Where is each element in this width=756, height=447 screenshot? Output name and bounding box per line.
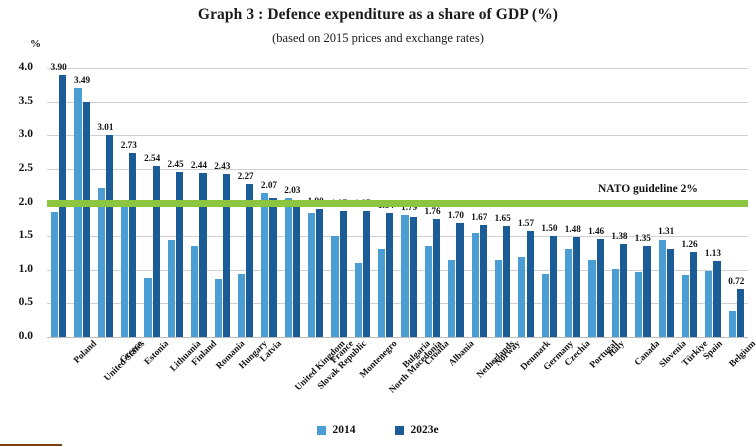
bar-2014[interactable] [121,207,128,337]
bar-2023e[interactable] [223,174,230,337]
bar-2023e[interactable] [293,200,300,337]
bar-2023e[interactable] [620,244,627,337]
bar-value-label: 0.72 [724,276,748,286]
y-axis-tick-label: 4.0 [1,61,33,73]
bar-value-label: 1.57 [514,218,538,228]
bar-2014[interactable] [705,271,712,337]
bar-value-label: 1.31 [654,226,678,236]
bar-value-label: 1.13 [701,248,725,258]
y-axis-tick-label: 0.0 [1,330,33,342]
bar-2023e[interactable] [83,102,90,337]
y-axis-tick-label: 0.5 [1,296,33,308]
y-axis-tick-label: 1.5 [1,229,33,241]
bar-2014[interactable] [238,274,245,337]
footer-rule [0,444,62,446]
x-axis-label: Belgium [728,339,756,369]
bar-2014[interactable] [635,272,642,337]
bar-value-label: 2.43 [210,161,234,171]
bar-2023e[interactable] [550,236,557,337]
bar-2014[interactable] [331,236,338,337]
bar-2014[interactable] [729,311,736,337]
bar-2014[interactable] [495,260,502,337]
bar-value-label: 1.70 [444,210,468,220]
bar-value-label: 1.38 [607,231,631,241]
bar-2023e[interactable] [246,184,253,337]
bar-2023e[interactable] [106,135,113,337]
x-axis-label: Estonia [143,339,171,367]
bar-value-label: 2.07 [257,180,281,190]
legend-label-2023e: 2023e [410,424,438,436]
bar-value-label: 1.65 [491,213,515,223]
bar-value-label: 3.90 [47,62,71,72]
bar-2023e[interactable] [503,226,510,337]
bar-2014[interactable] [659,240,666,338]
legend-item-2014[interactable]: 2014 [317,424,355,436]
bar-2014[interactable] [285,198,292,337]
bar-value-label: 2.73 [117,140,141,150]
bar-value-label: 1.46 [584,226,608,236]
bar-value-label: 1.67 [467,212,491,222]
bar-2014[interactable] [472,233,479,337]
bar-value-label: 3.49 [70,75,94,85]
bar-2014[interactable] [308,213,315,337]
bar-2023e[interactable] [597,239,604,337]
bar-value-label: 2.03 [280,185,304,195]
bar-2023e[interactable] [713,261,720,337]
bar-2014[interactable] [401,215,408,337]
bar-2023e[interactable] [667,249,674,337]
bar-value-label: 2.44 [187,160,211,170]
bar-2023e[interactable] [690,252,697,337]
bar-2014[interactable] [565,249,572,337]
bar-value-label: 2.54 [140,153,164,163]
bar-2023e[interactable] [269,198,276,337]
y-axis-unit-label: % [30,38,41,50]
bar-2014[interactable] [51,212,58,337]
bar-2023e[interactable] [153,166,160,337]
legend-swatch-2014 [317,426,326,435]
bar-2014[interactable] [168,240,175,338]
x-axis-label: Albania [447,339,476,368]
bar-2023e[interactable] [643,246,650,337]
bar-2014[interactable] [98,188,105,337]
bar-2014[interactable] [682,275,689,337]
bar-2023e[interactable] [129,153,136,337]
bar-value-label: 1.76 [421,206,445,216]
page-title: Graph 3 : Defence expenditure as a share… [0,6,756,24]
bar-2014[interactable] [588,260,595,337]
bar-2014[interactable] [378,249,385,337]
x-axis-label: Poland [72,339,99,366]
bar-2014[interactable] [448,260,455,337]
legend-swatch-2023e [395,426,404,435]
bar-2023e[interactable] [573,237,580,337]
bar-2014[interactable] [542,274,549,337]
bar-2014[interactable] [612,269,619,337]
bar-2014[interactable] [74,88,81,337]
chart-legend: 2014 2023e [0,424,756,436]
y-axis-tick-label: 3.5 [1,95,33,107]
bar-2014[interactable] [355,263,362,337]
legend-label-2014: 2014 [332,424,355,436]
bar-2014[interactable] [215,279,222,337]
bar-value-label: 2.27 [234,171,258,181]
x-axis-label: Greece [119,339,146,366]
x-axis-category-labels: PolandUnited StatesGreeceEstoniaLithuani… [47,339,748,431]
bar-2023e[interactable] [410,217,417,337]
bar-value-label: 3.01 [93,122,117,132]
y-axis-tick-label: 2.0 [1,196,33,208]
bar-2023e[interactable] [176,172,183,337]
bar-2014[interactable] [425,246,432,337]
legend-item-2023e[interactable]: 2023e [395,424,438,436]
bar-2014[interactable] [261,193,268,337]
bar-2023e[interactable] [386,213,393,337]
bar-2014[interactable] [144,278,151,337]
bar-value-label: 1.50 [537,223,561,233]
bar-2023e[interactable] [363,211,370,337]
bar-2023e[interactable] [316,209,323,337]
bar-2023e[interactable] [737,289,744,337]
bar-2023e[interactable] [340,211,347,337]
bar-2023e[interactable] [456,223,463,337]
gridline [47,337,748,338]
bar-value-label: 1.35 [631,233,655,243]
bar-2014[interactable] [518,257,525,337]
nato-guideline-line [47,200,748,207]
chart-subtitle: (based on 2015 prices and exchange rates… [0,31,756,46]
bar-value-label: 2.45 [164,159,188,169]
bar-2023e[interactable] [480,225,487,337]
bar-2023e[interactable] [527,231,534,337]
bar-2023e[interactable] [199,173,206,337]
bar-value-label: 1.26 [678,239,702,249]
y-axis-tick-label: 3.0 [1,128,33,140]
bar-2014[interactable] [191,246,198,337]
bar-value-label: 1.48 [561,224,585,234]
bar-2023e[interactable] [433,219,440,337]
nato-guideline-label: NATO guideline 2% [598,183,698,195]
y-axis-tick-label: 1.0 [1,263,33,275]
y-axis-tick-label: 2.5 [1,162,33,174]
